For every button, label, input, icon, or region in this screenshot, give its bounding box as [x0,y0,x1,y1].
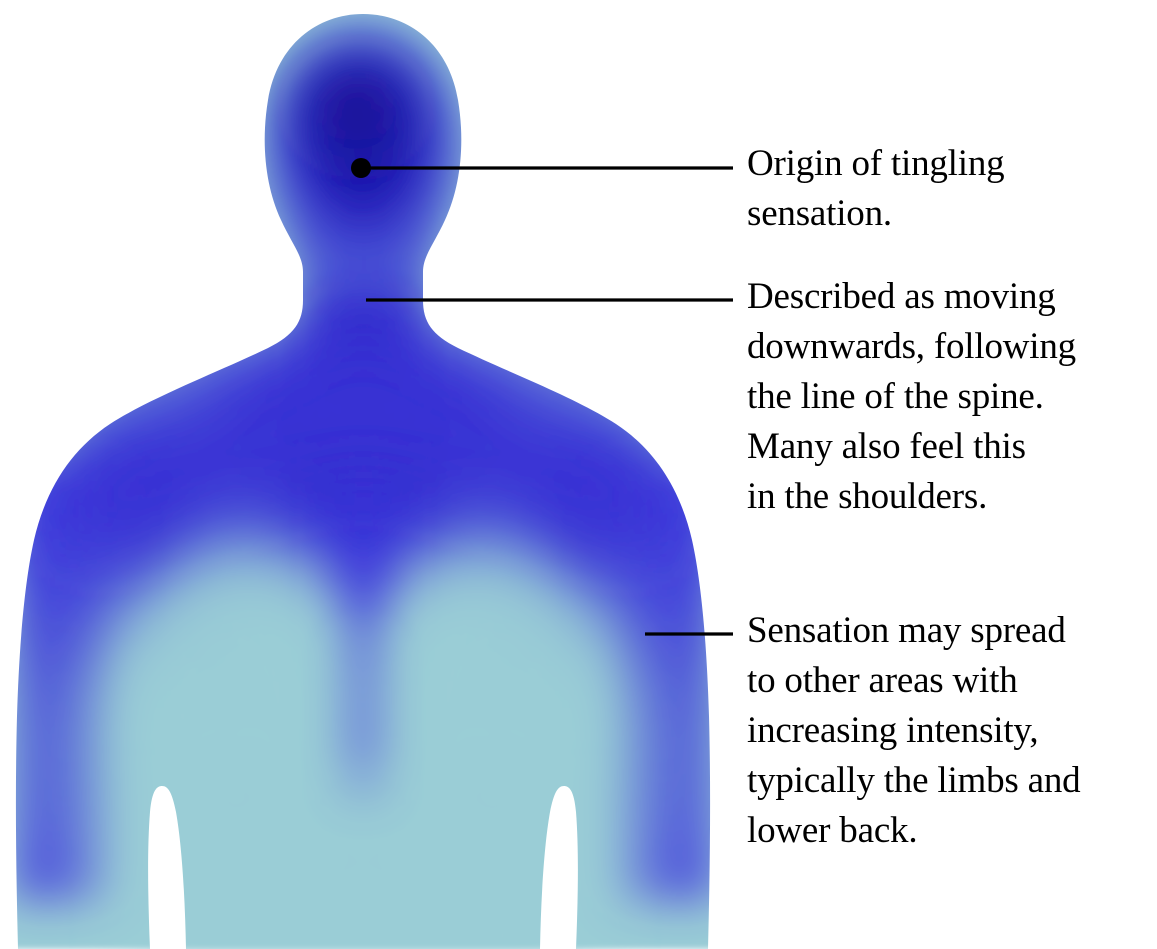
callout-text-spread: Sensation may spread to other areas with… [747,606,1147,856]
callout-text-origin: Origin of tingling sensation. [747,139,1147,239]
origin-marker-dot [351,158,371,178]
region-spine-tail [336,640,390,800]
body-map-figure: Origin of tingling sensation. Described … [0,0,1157,949]
callout-text-spine: Described as moving downwards, following… [747,272,1147,522]
